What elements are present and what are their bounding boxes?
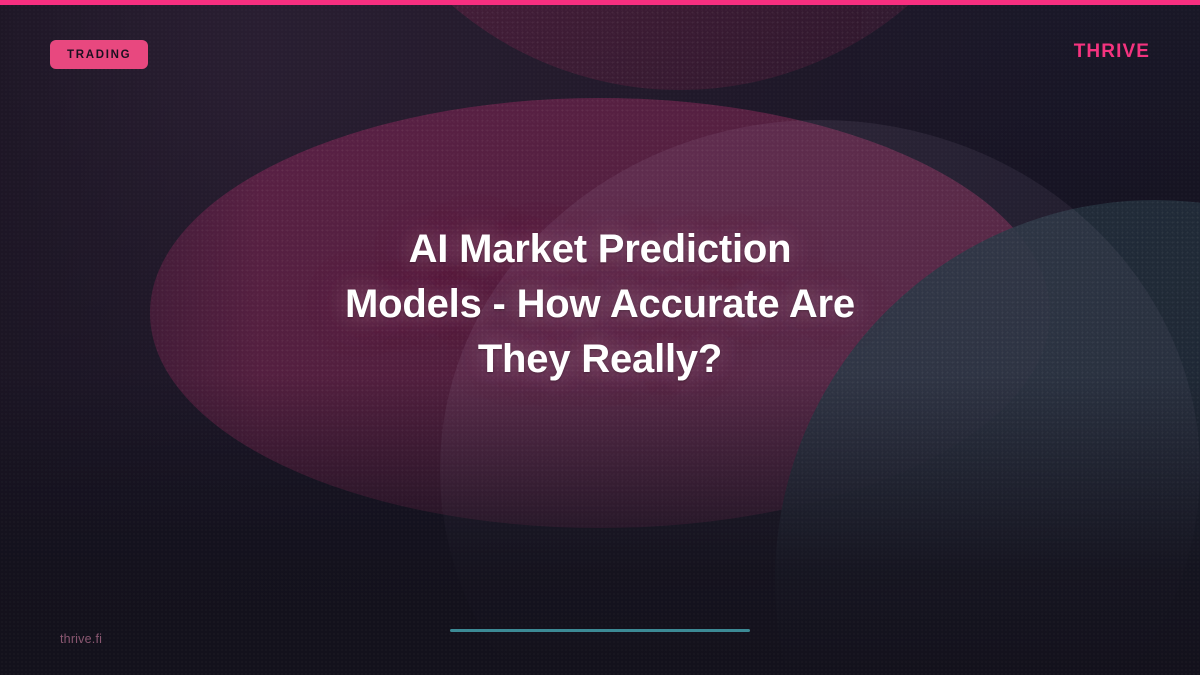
brand-logo: THRIVE <box>1074 41 1150 63</box>
social-share-card: TRADING THRIVE AI Market Prediction Mode… <box>0 0 1200 675</box>
page-title-line-1: AI Market Prediction <box>150 222 1050 277</box>
top-accent-bar <box>0 0 1200 5</box>
top-circle-decoration <box>330 0 1030 90</box>
footer-accent-rule <box>450 629 750 632</box>
site-watermark: thrive.fi <box>60 632 102 646</box>
page-title: AI Market Prediction Models - How Accura… <box>150 222 1050 387</box>
lavender-wash-decoration <box>440 120 1200 675</box>
page-title-line-3: They Really? <box>150 332 1050 387</box>
page-title-line-2: Models - How Accurate Are <box>150 277 1050 332</box>
category-badge: TRADING <box>50 40 148 69</box>
